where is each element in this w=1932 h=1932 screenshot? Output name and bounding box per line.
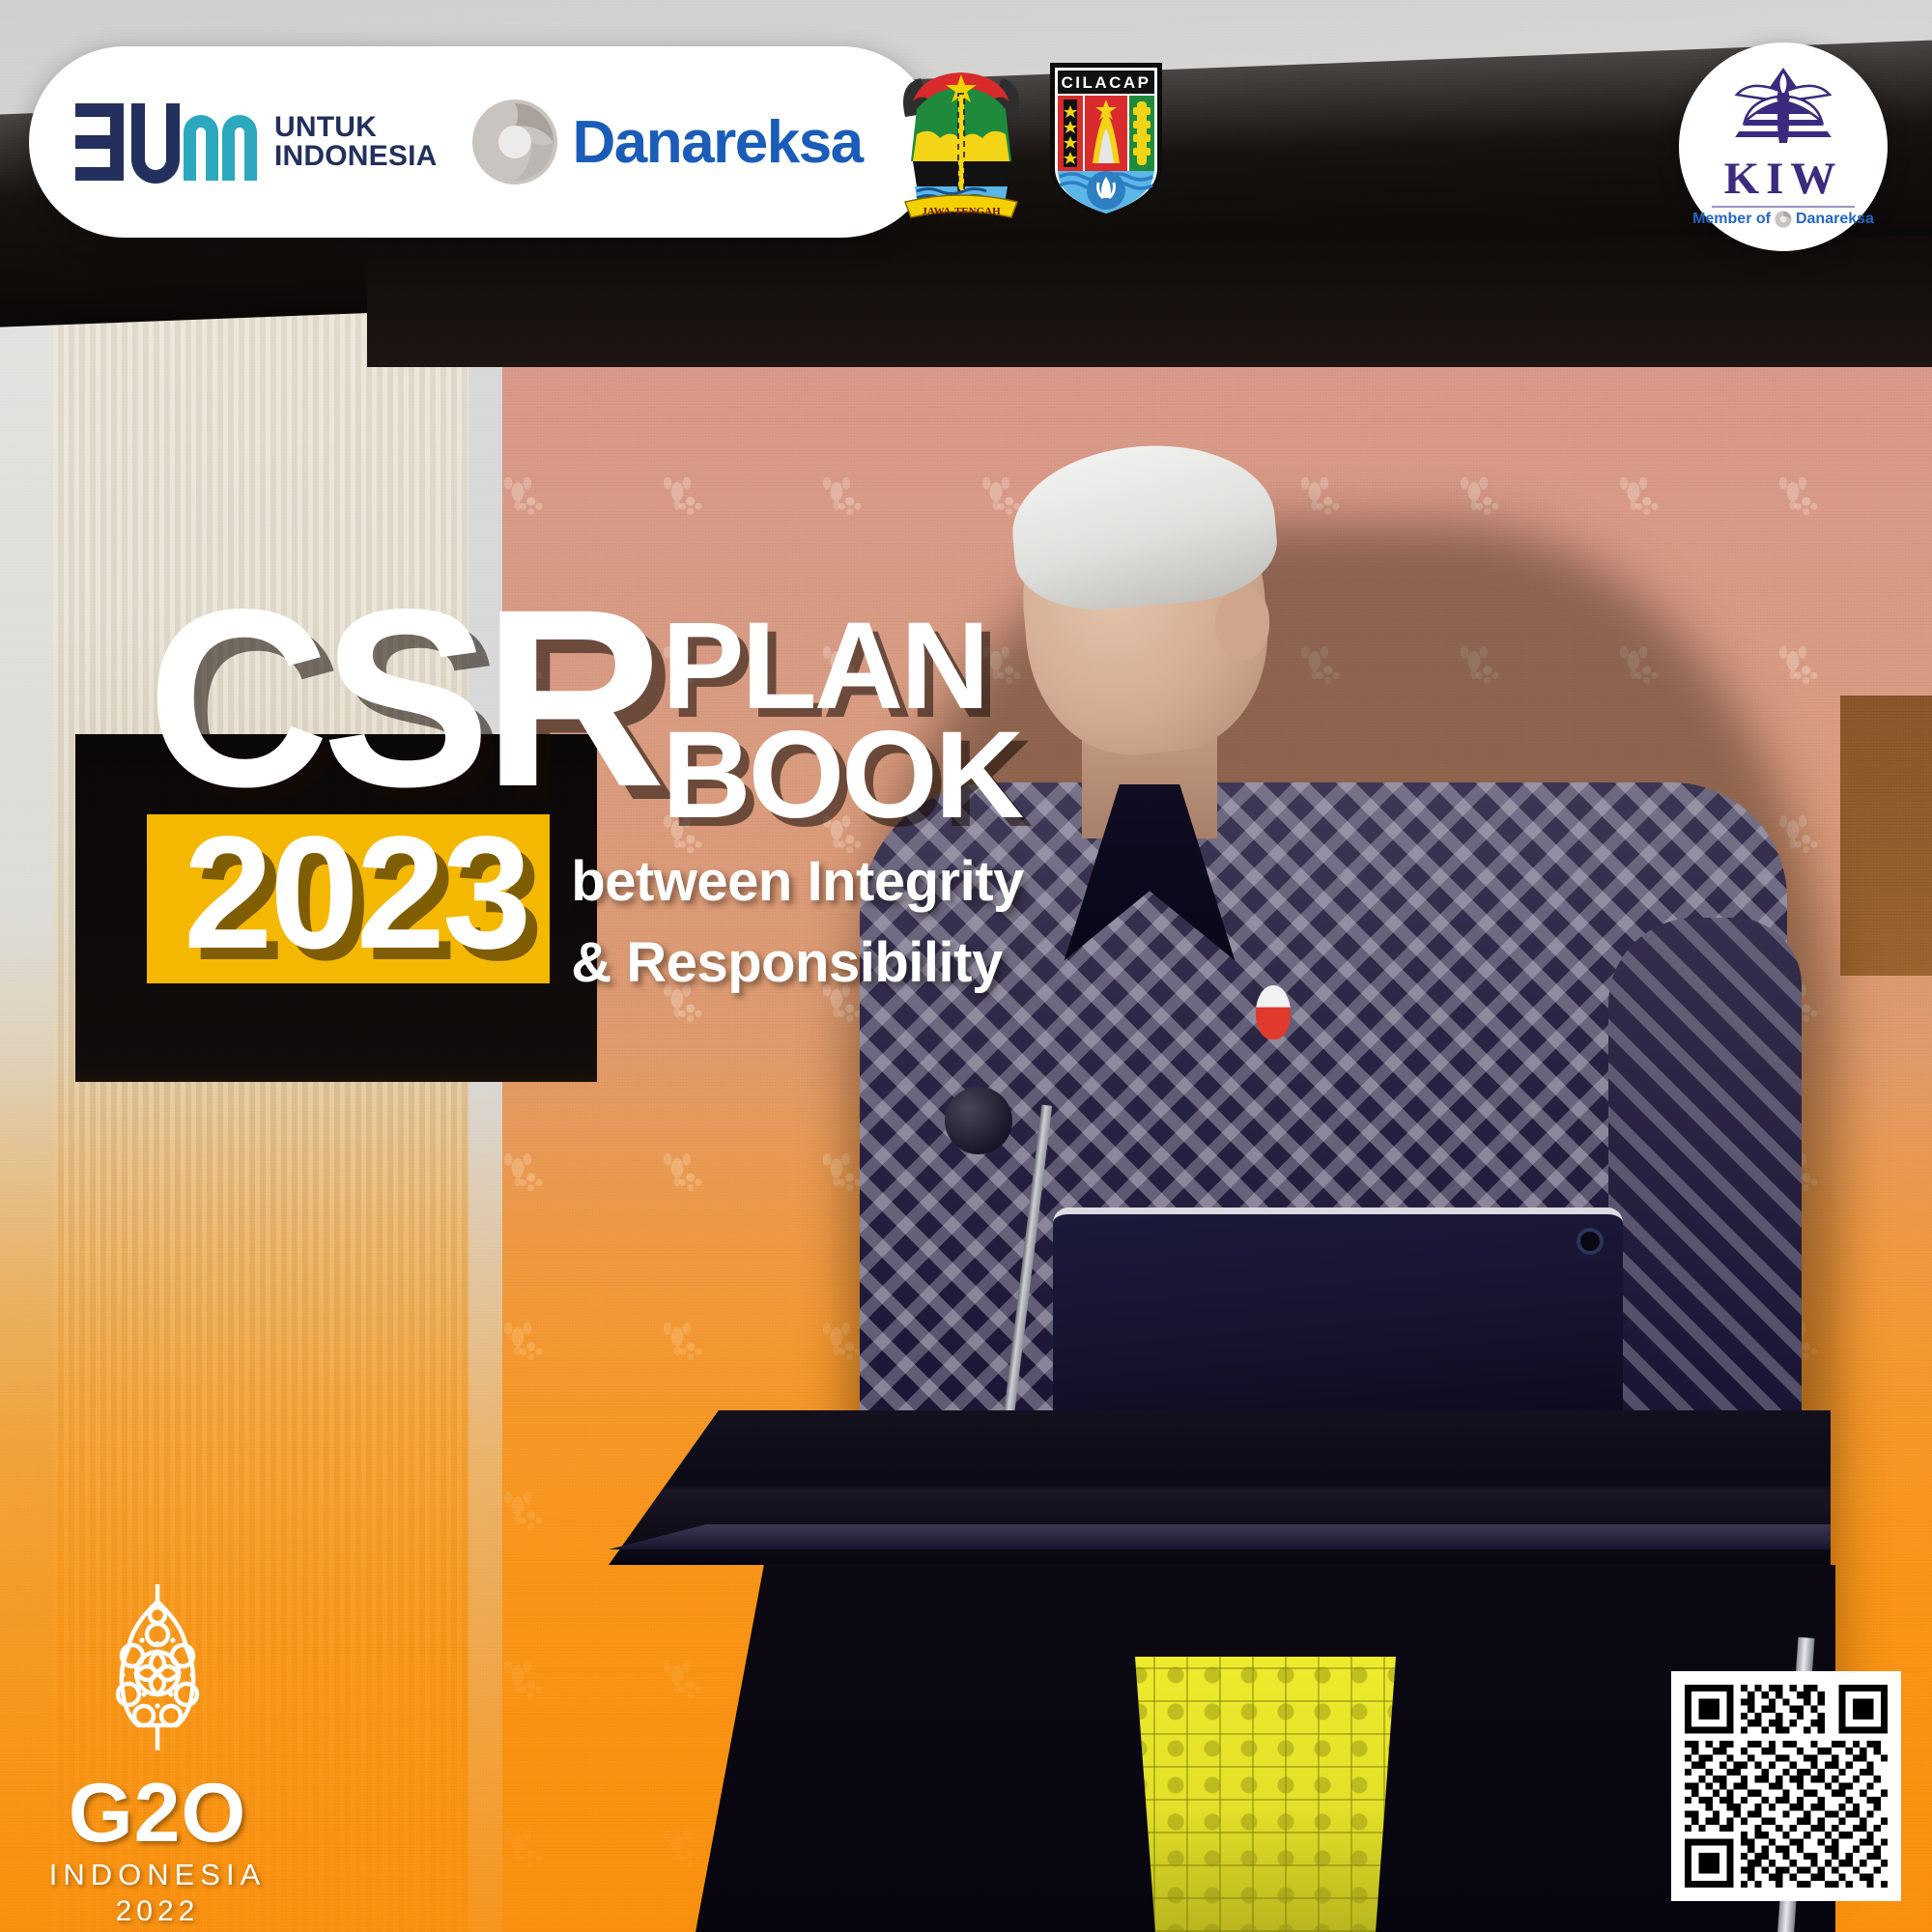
partner-logo-bar: UNTUK INDONESIA Danareksa	[29, 46, 937, 238]
headline-year: 2023	[184, 820, 528, 968]
qr-code[interactable]	[1671, 1671, 1901, 1901]
bumn-logo[interactable]: UNTUK INDONESIA	[75, 98, 438, 186]
headline-plan: PLAN	[662, 612, 1021, 722]
danareksa-wordmark: Danareksa	[573, 108, 863, 177]
danareksa-logo[interactable]: Danareksa	[470, 98, 863, 186]
podium-front-emblem-panel	[1121, 1657, 1410, 1932]
headline-planbook: PLAN BOOK	[662, 612, 1021, 830]
tagline-line2: & Responsibility	[571, 923, 1023, 1004]
cilacap-seal-icon: CILACAP	[1044, 59, 1168, 221]
g20-year: 2022	[46, 1895, 269, 1928]
podium-emblem-pattern	[1121, 1657, 1410, 1932]
headline-tagline: between Integrity & Responsibility	[571, 841, 1023, 1004]
poster-canvas: UNTUK INDONESIA Danareksa	[0, 0, 1932, 1932]
kiw-member-brand: Danareksa	[1796, 211, 1874, 228]
jawa-tengah-seal[interactable]: JAWA-TENGAH	[888, 59, 1035, 226]
year-badge: 2023	[147, 814, 550, 983]
bumn-wordmark-icon	[75, 98, 265, 186]
cilacap-seal[interactable]: CILACAP	[1044, 59, 1168, 226]
podium-lip	[609, 1524, 1831, 1549]
g20-country: INDONESIA	[46, 1858, 269, 1892]
danareksa-pinwheel-icon-small	[1775, 211, 1792, 228]
screen-indicator-dot	[1580, 1232, 1600, 1251]
teleprompter-screen	[1053, 1207, 1623, 1435]
microphone-head-icon	[945, 1087, 1012, 1154]
headline-book: BOOK	[662, 722, 1021, 831]
g20-batik-ornament-icon	[80, 1580, 235, 1778]
headline-bottom-row: 2023 between Integrity & Responsibility	[147, 814, 1499, 1004]
qr-code-icon	[1685, 1685, 1888, 1888]
kiw-logo-badge[interactable]: KIW Member of Danareksa	[1679, 43, 1888, 251]
kiw-divider	[1712, 206, 1855, 208]
tagline-line1: between Integrity	[571, 841, 1023, 923]
g20-wordmark: G2O	[46, 1775, 269, 1854]
headline-csr: CSR	[147, 597, 658, 800]
danareksa-pinwheel-icon	[470, 98, 559, 186]
bumn-tagline-line2: INDONESIA	[274, 142, 438, 171]
kiw-member-prefix: Member of	[1692, 211, 1771, 228]
bumn-tagline-line1: UNTUK	[274, 113, 438, 142]
svg-text:JAWA-TENGAH: JAWA-TENGAH	[922, 206, 1001, 217]
headline-block: CSR PLAN BOOK 2023 between Integrity & R…	[147, 597, 1499, 1004]
headline-top-row: CSR PLAN BOOK	[147, 597, 1499, 830]
kiw-wordmark: KIW	[1724, 156, 1843, 202]
jawa-tengah-seal-icon: JAWA-TENGAH	[888, 59, 1035, 221]
kiw-member-line: Member of Danareksa	[1692, 211, 1874, 228]
kiw-palm-icon	[1721, 66, 1845, 155]
svg-text:CILACAP: CILACAP	[1061, 73, 1151, 92]
g20-logo: G2O INDONESIA 2022	[46, 1580, 269, 1928]
bumn-tagline: UNTUK INDONESIA	[274, 113, 438, 171]
